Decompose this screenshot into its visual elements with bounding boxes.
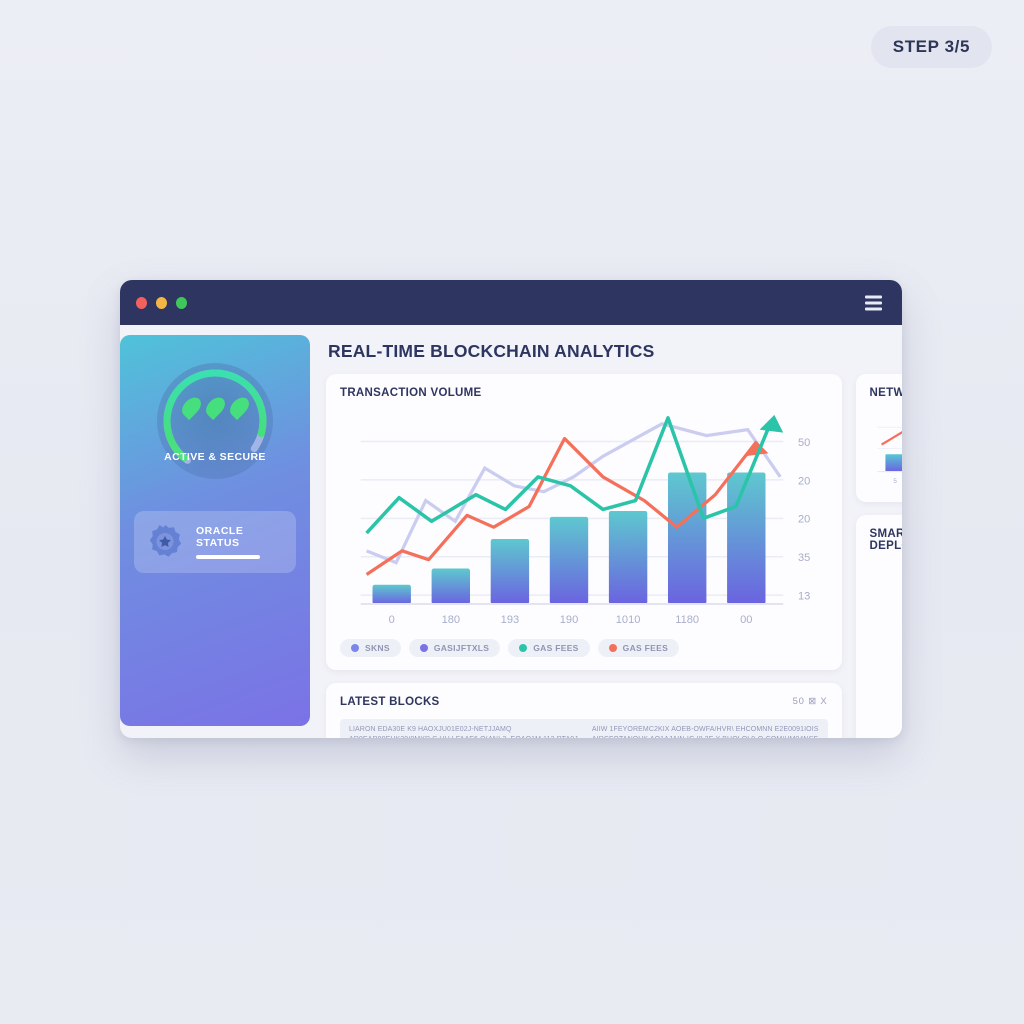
table-row: AR0EAR90EHK20/0MXR.C.HU.LFAAE6.O(AN) 3, … (349, 736, 578, 738)
svg-text:35: 35 (798, 552, 810, 564)
svg-text:5: 5 (893, 478, 897, 485)
network-hash-rate-chart: 5 10 100 200 50 (870, 406, 902, 489)
legend-color-dot (609, 644, 617, 652)
blocks-column-left: LIARON EDA30E K9 HAOXJU01E02J-NETJJAMQ A… (349, 726, 578, 738)
oracle-status-underline (196, 555, 260, 559)
table-row: AIRCFOTANOHK AO1AJAIN-IG I0 3E X BHOLOL9… (592, 736, 819, 738)
x-axis-labels: 5 10 100 200 50 (893, 478, 902, 485)
app-window: ACTIVE & SECURE ORACLE STATUS (120, 280, 902, 738)
step-badge: STEP 3/5 (871, 26, 992, 68)
main-content: REAL-TIME BLOCKCHAIN ANALYTICS TRANSACTI… (310, 335, 902, 726)
legend-label: SKNS (365, 643, 390, 653)
y-axis-labels: 50 20 20 35 13 (798, 437, 810, 603)
legend-label: GASIJFTXLS (434, 643, 489, 653)
legend-label: GAS FEES (623, 643, 668, 653)
chart-legend: SKNS GASIJFTXLS GAS FEES (340, 639, 828, 657)
legend-item[interactable]: GAS FEES (508, 639, 589, 657)
latest-blocks-meta: 50 ⊠ X (793, 696, 828, 707)
page-title: REAL-TIME BLOCKCHAIN ANALYTICS (328, 341, 902, 362)
svg-text:1010: 1010 (616, 614, 641, 626)
oracle-status-title: ORACLE STATUS (196, 525, 284, 549)
page-root: STEP 3/5 (0, 0, 1024, 1024)
transaction-volume-card: TRANSACTION VOLUME (326, 374, 842, 670)
svg-text:13: 13 (798, 591, 810, 603)
droplet-icons (157, 396, 273, 418)
network-hash-rate-card: NETWORK HASH RATE (856, 374, 902, 502)
deployments-donut-chart (870, 556, 902, 738)
svg-text:190: 190 (560, 614, 578, 626)
gauge-status-label: ACTIVE & SECURE (157, 451, 273, 463)
svg-text:20: 20 (798, 475, 810, 487)
table-row: AIIW 1FEYOREMC2KIX AOEB-OWFA/HVR\ EHCOMN… (592, 726, 819, 733)
legend-color-dot (420, 644, 428, 652)
blocks-column-right: AIIW 1FEYOREMC2KIX AOEB-OWFA/HVR\ EHCOMN… (592, 726, 819, 738)
droplet-icon (226, 394, 252, 420)
svg-text:180: 180 (442, 614, 460, 626)
badge-star-icon (146, 523, 184, 561)
legend-item[interactable]: GASIJFTXLS (409, 639, 500, 657)
svg-text:20: 20 (798, 514, 810, 526)
chart-title-network-hash-rate: NETWORK HASH RATE (870, 387, 902, 399)
minimize-button-icon[interactable] (156, 297, 167, 309)
droplet-icon (178, 394, 204, 420)
latest-blocks-table: LIARON EDA30E K9 HAOXJU01E02J-NETJJAMQ A… (340, 719, 828, 738)
gridlines (877, 427, 902, 448)
latest-blocks-title: LATEST BLOCKS (340, 696, 440, 708)
sidebar-panel: ACTIVE & SECURE ORACLE STATUS (120, 335, 310, 726)
smart-contract-deployments-card: SMART CONTRACT DEPLOYIMENTS (856, 515, 902, 738)
svg-text:50: 50 (798, 437, 810, 449)
latest-blocks-card: LATEST BLOCKS 50 ⊠ X LIARON EDA30E K9 HA… (326, 683, 842, 738)
traffic-lights (136, 297, 187, 309)
transaction-volume-chart: 0 180 193 190 1010 1180 00 (340, 409, 828, 631)
svg-text:0: 0 (389, 614, 395, 626)
series-arrow-teal (760, 415, 784, 433)
droplet-icon (202, 394, 228, 420)
x-axis-labels: 0 180 193 190 1010 1180 00 (389, 614, 753, 626)
legend-color-dot (519, 644, 527, 652)
chart-title-transaction-volume: TRANSACTION VOLUME (340, 387, 828, 399)
trend-line (881, 414, 902, 451)
hamburger-menu-icon[interactable] (865, 295, 882, 310)
legend-label: GAS FEES (533, 643, 578, 653)
svg-text:00: 00 (740, 614, 752, 626)
window-body: ACTIVE & SECURE ORACLE STATUS (120, 325, 902, 738)
close-button-icon[interactable] (136, 297, 147, 309)
table-row: LIARON EDA30E K9 HAOXJU01E02J-NETJJAMQ (349, 726, 578, 733)
legend-item[interactable]: SKNS (340, 639, 401, 657)
status-gauge: ACTIVE & SECURE (134, 363, 296, 479)
svg-text:193: 193 (501, 614, 519, 626)
window-titlebar (120, 280, 902, 325)
bars (373, 473, 766, 604)
maximize-button-icon[interactable] (176, 297, 187, 309)
svg-text:1180: 1180 (675, 614, 699, 626)
legend-item[interactable]: GAS FEES (598, 639, 679, 657)
chart-title-smart-contract-deployments: SMART CONTRACT DEPLOYIMENTS (870, 528, 902, 552)
oracle-status-card[interactable]: ORACLE STATUS (134, 511, 296, 573)
legend-color-dot (351, 644, 359, 652)
